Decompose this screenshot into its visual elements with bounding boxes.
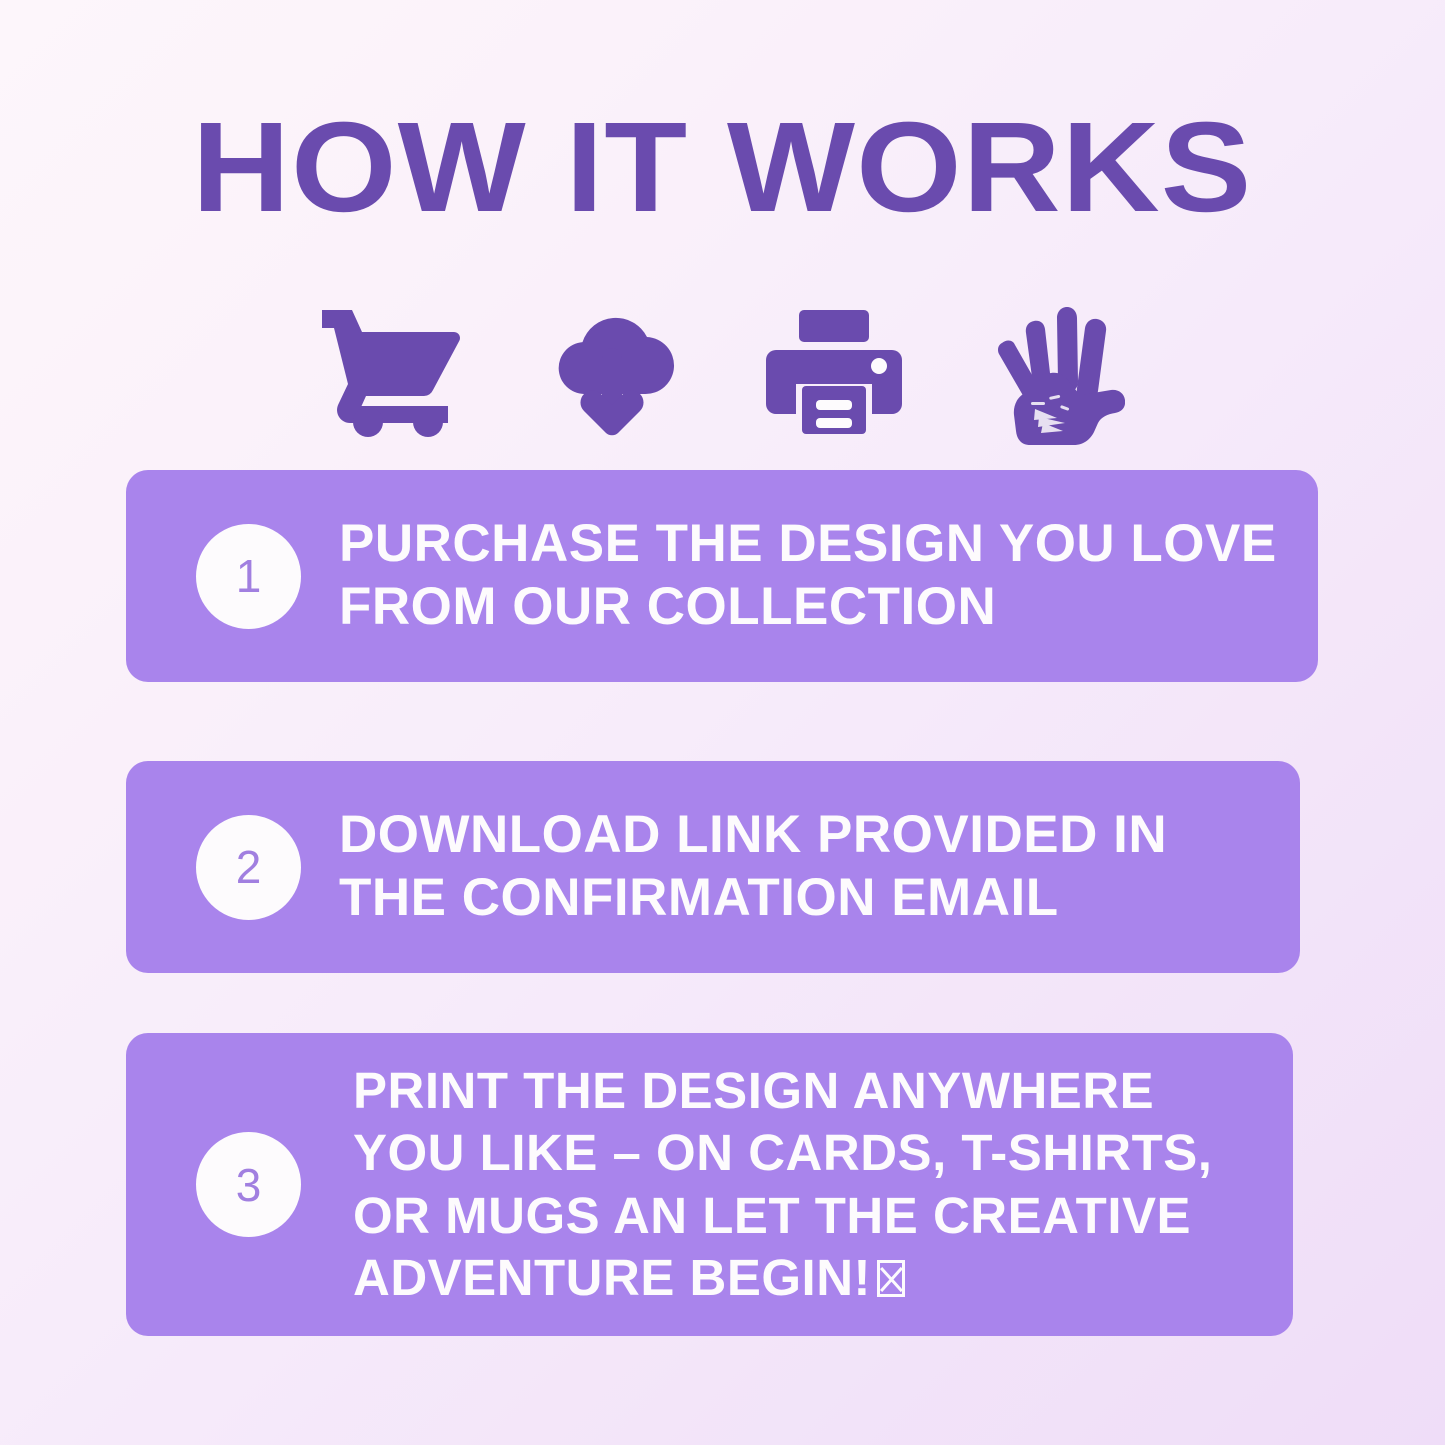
step-card-1[interactable]: 1 PURCHASE THE DESIGN YOU LOVE FROM OUR … bbox=[126, 470, 1318, 682]
page-title-container: HOW IT WORKS bbox=[0, 104, 1445, 232]
handprint-icon bbox=[981, 297, 1131, 447]
step-text-line-with-glyph: ADVENTURE BEGIN! bbox=[353, 1247, 1269, 1309]
step-text-line: PURCHASE THE DESIGN YOU LOVE bbox=[339, 513, 1294, 576]
step-badge-1: 1 bbox=[196, 524, 301, 629]
icon-row bbox=[0, 292, 1445, 452]
how-it-works-poster: HOW IT WORKS bbox=[0, 0, 1445, 1445]
step-number-1: 1 bbox=[236, 553, 262, 599]
printer-icon bbox=[759, 297, 909, 447]
step-text-line: OR MUGS AN LET THE CREATIVE bbox=[353, 1185, 1269, 1247]
step-text-line: YOU LIKE – ON CARDS, T-SHIRTS, bbox=[353, 1122, 1269, 1184]
step-badge-2: 2 bbox=[196, 815, 301, 920]
step-text-2: DOWNLOAD LINK PROVIDED IN THE CONFIRMATI… bbox=[339, 804, 1300, 929]
step-text-3: PRINT THE DESIGN ANYWHERE YOU LIKE – ON … bbox=[353, 1060, 1293, 1309]
step-badge-3: 3 bbox=[196, 1132, 301, 1237]
step-text-1: PURCHASE THE DESIGN YOU LOVE FROM OUR CO… bbox=[339, 513, 1318, 638]
shopping-cart-icon bbox=[315, 297, 465, 447]
step-number-2: 2 bbox=[236, 844, 262, 890]
step-card-3[interactable]: 3 PRINT THE DESIGN ANYWHERE YOU LIKE – O… bbox=[126, 1033, 1293, 1336]
step-text-line: THE CONFIRMATION EMAIL bbox=[339, 867, 1276, 930]
step-text-line: ADVENTURE BEGIN! bbox=[353, 1249, 871, 1306]
steps-list: 1 PURCHASE THE DESIGN YOU LOVE FROM OUR … bbox=[0, 470, 1445, 1336]
step-text-line: PRINT THE DESIGN ANYWHERE bbox=[353, 1060, 1269, 1122]
step-card-2[interactable]: 2 DOWNLOAD LINK PROVIDED IN THE CONFIRMA… bbox=[126, 761, 1300, 973]
missing-glyph-box-icon bbox=[877, 1260, 905, 1297]
step-text-line: DOWNLOAD LINK PROVIDED IN bbox=[339, 804, 1276, 867]
step-number-3: 3 bbox=[236, 1162, 262, 1208]
cloud-download-icon bbox=[537, 297, 687, 447]
step-text-line: FROM OUR COLLECTION bbox=[339, 576, 1294, 639]
page-title: HOW IT WORKS bbox=[192, 104, 1252, 232]
